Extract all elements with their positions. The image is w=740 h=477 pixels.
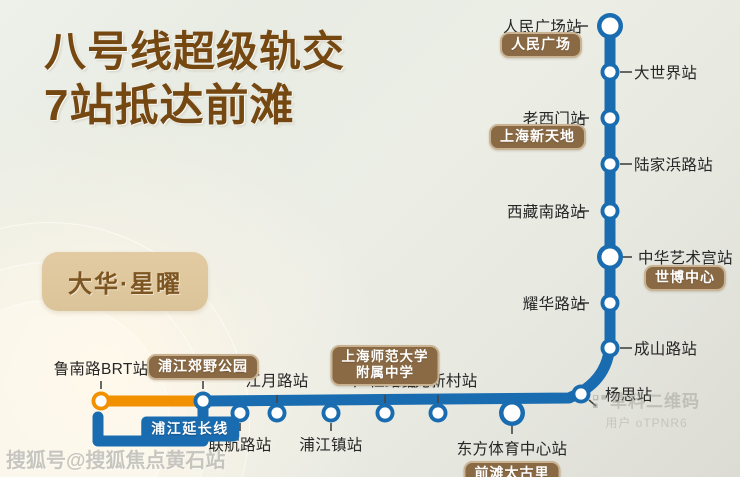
station-node[interactable] [601, 109, 620, 128]
poi-badge-text: 世博中心 [655, 269, 715, 286]
poi-badge-text: 前滩太古里 [475, 465, 550, 477]
station-node[interactable] [499, 400, 525, 426]
station-node[interactable] [376, 404, 395, 423]
poi-badge: 上海新天地 [489, 124, 586, 150]
station-label: 陆家浜路站 [634, 153, 713, 175]
station-node[interactable] [601, 63, 620, 82]
station-node[interactable] [601, 155, 620, 174]
station-label: 成山路站 [634, 337, 697, 359]
station-node[interactable] [597, 13, 623, 39]
poi-badge-text: 浦江郊野公园 [158, 358, 248, 375]
station-node[interactable] [572, 385, 591, 404]
station-label: 耀华路站 [523, 292, 586, 314]
station-label: 西藏南路站 [507, 200, 586, 222]
station-label: 大世界站 [634, 61, 697, 83]
poi-badge-text: 人民广场 [511, 36, 571, 53]
station-node[interactable] [268, 404, 287, 423]
line-name-tag: 浦江延长线 [141, 417, 239, 442]
poi-badge: 前滩太古里 [464, 461, 561, 477]
station-node[interactable] [194, 392, 213, 411]
station-node[interactable] [601, 339, 620, 358]
station-label: 东方体育中心站 [457, 437, 568, 459]
station-node[interactable] [601, 202, 620, 221]
station-label: 浦江镇站 [299, 433, 362, 455]
station-node[interactable] [597, 244, 623, 270]
poi-badge: 世博中心 [644, 265, 726, 291]
station-label: 杨思站 [605, 383, 652, 405]
line-name-tag-text: 浦江延长线 [151, 421, 229, 437]
poi-badge-text: 附属中学 [342, 365, 429, 381]
poi-badge: 人民广场 [500, 32, 582, 58]
metro-poster: 八号线超级轨交 7站抵达前滩 大华·星曜 [0, 0, 740, 477]
poi-badge-text: 上海师范大学 [342, 349, 429, 365]
station-node[interactable] [322, 404, 341, 423]
metro-line-diagram [0, 0, 740, 477]
station-label: 鲁南路BRT站 [54, 357, 149, 379]
poi-badge: 浦江郊野公园 [147, 354, 259, 380]
station-node[interactable] [429, 404, 448, 423]
station-node[interactable] [92, 392, 111, 411]
poi-badge: 上海师范大学附属中学 [331, 345, 440, 386]
poi-badge-text: 上海新天地 [500, 128, 575, 145]
station-node[interactable] [601, 294, 620, 313]
